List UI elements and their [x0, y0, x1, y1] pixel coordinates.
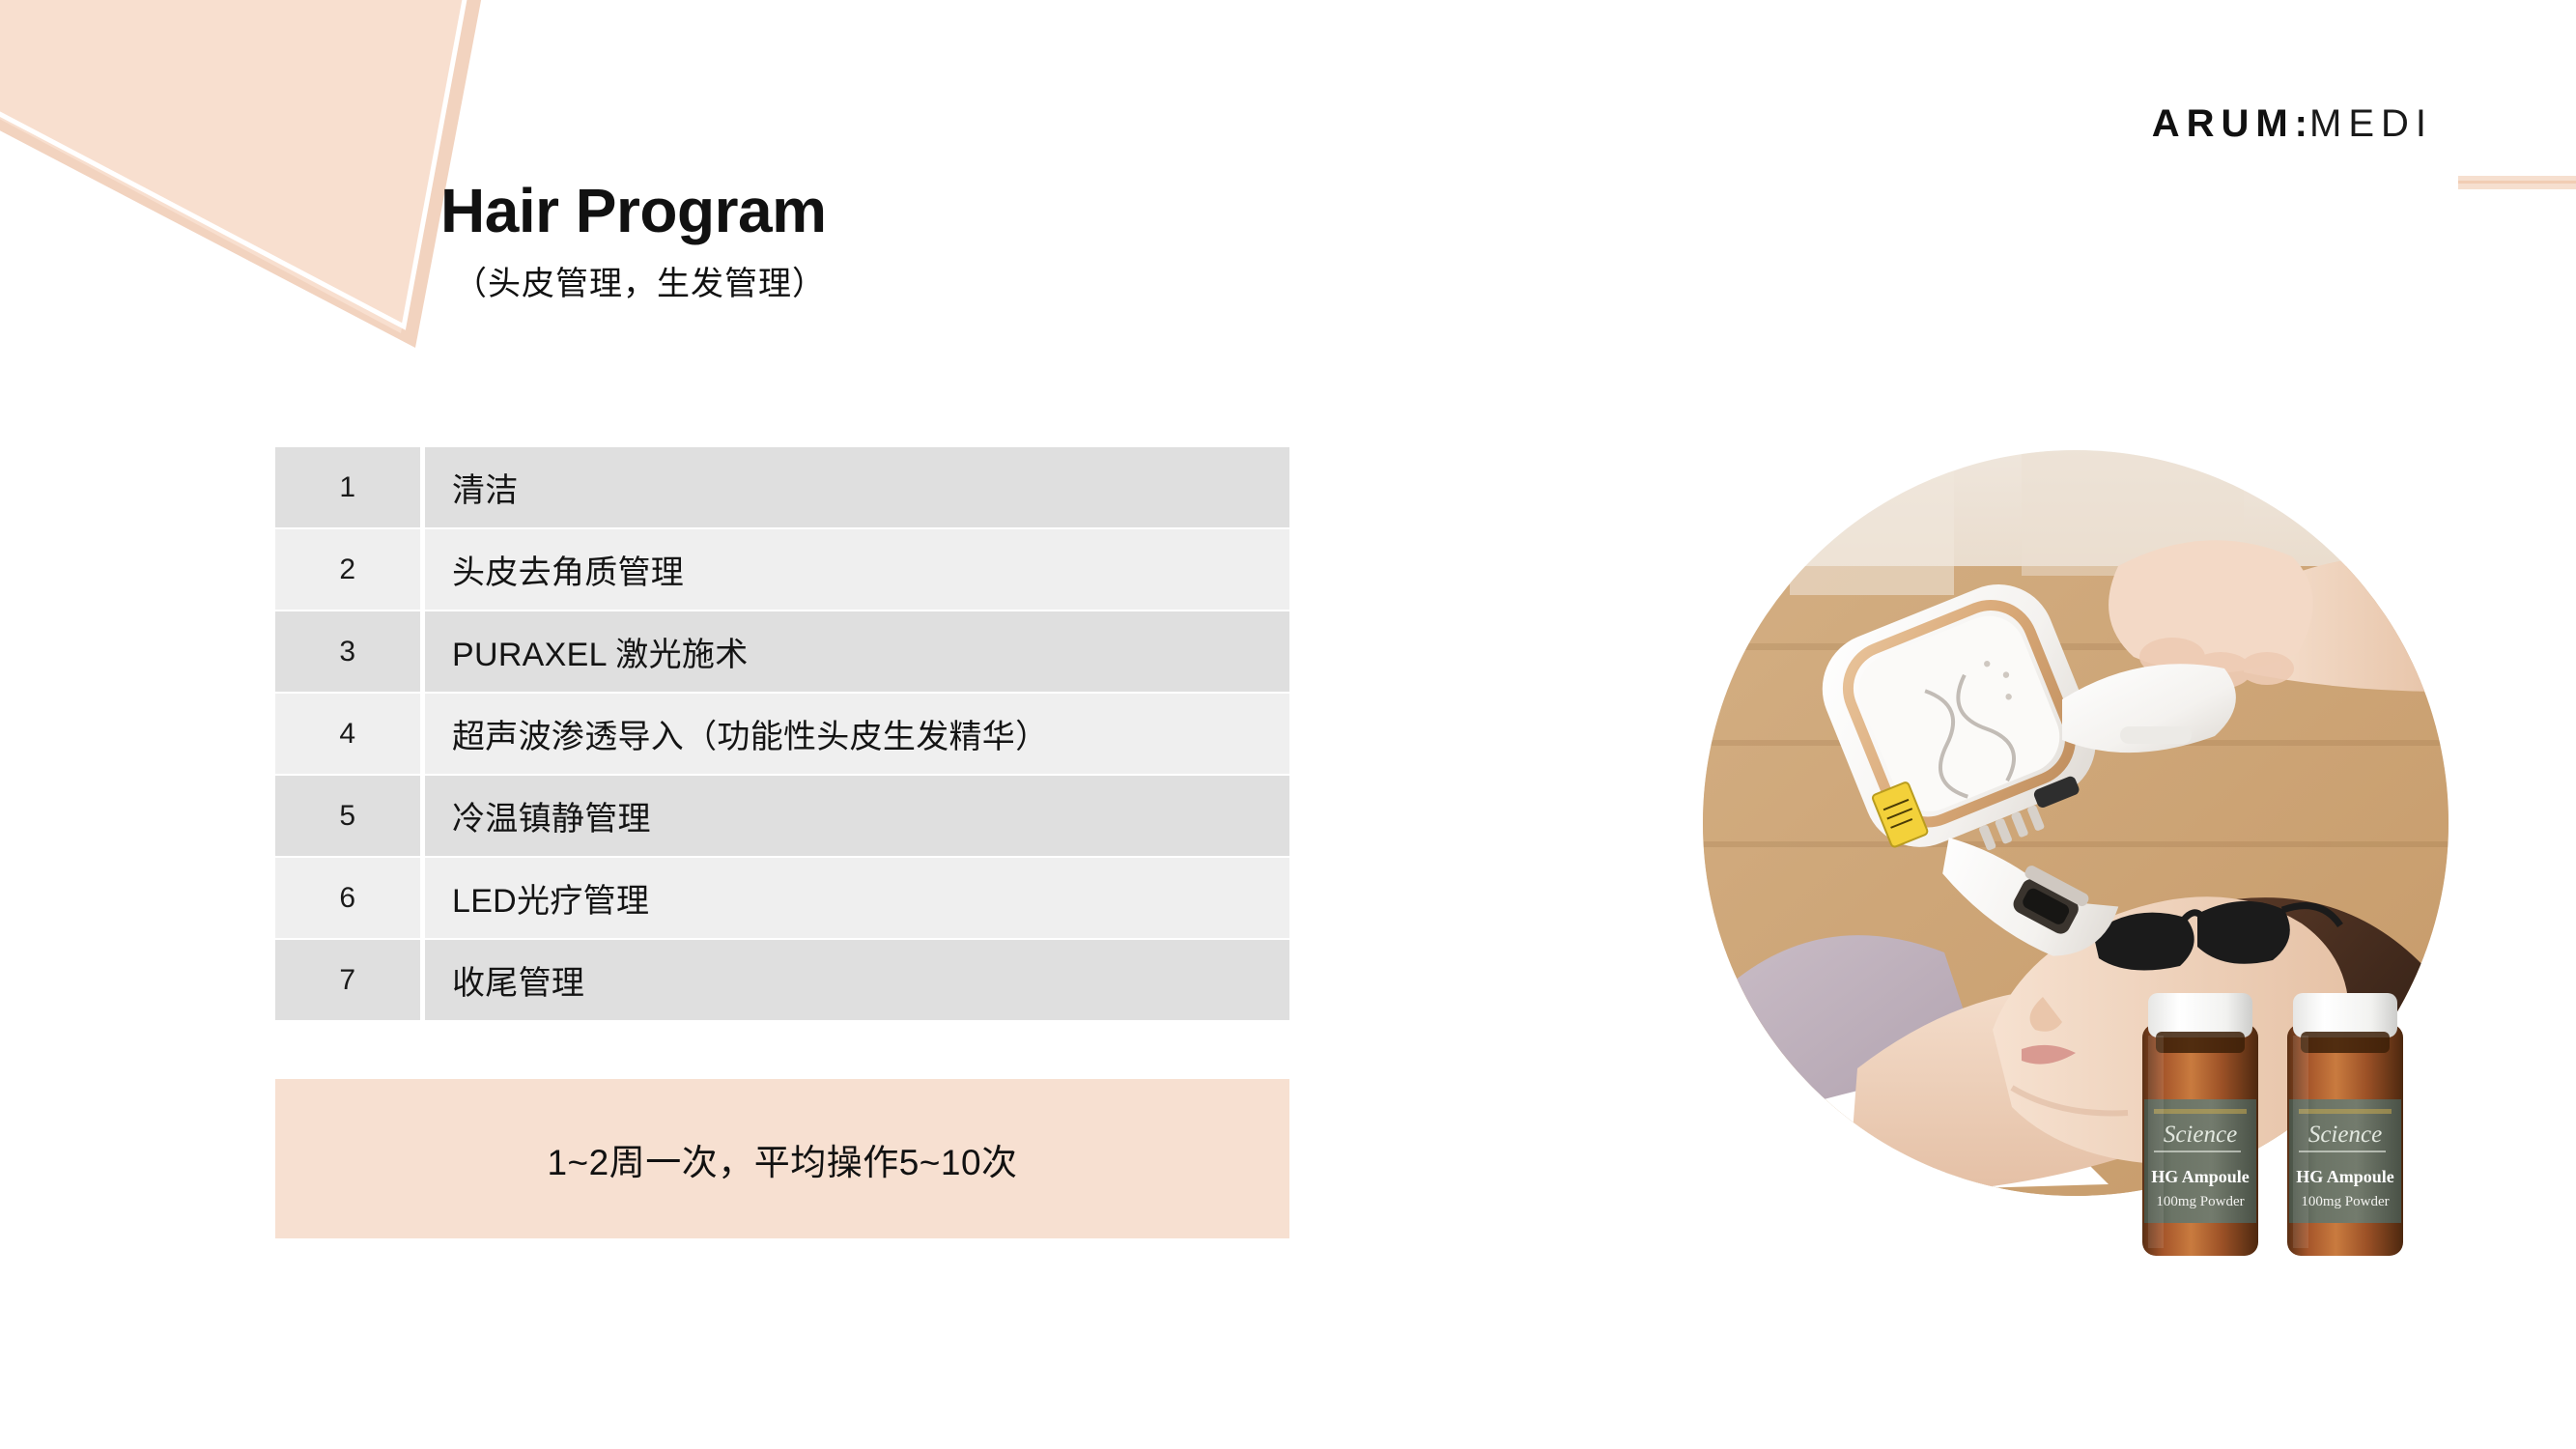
step-label: 收尾管理 — [425, 940, 1289, 1020]
step-label: 超声波渗透导入（功能性头皮生发精华） — [425, 694, 1289, 774]
step-number: 2 — [275, 529, 420, 610]
logo-arum: ARUM — [2152, 102, 2295, 145]
svg-text:HG Ampoule: HG Ampoule — [2151, 1167, 2250, 1186]
slide-root: ARUM:MEDI Hair Program （头皮管理，生发管理） 1 清洁 … — [0, 0, 2576, 1449]
frequency-note-banner: 1~2周一次，平均操作5~10次 — [275, 1079, 1289, 1238]
step-number: 5 — [275, 776, 420, 856]
table-row: 7 收尾管理 — [275, 940, 1289, 1020]
header-accent-bar — [2458, 176, 2576, 189]
table-row: 2 头皮去角质管理 — [275, 529, 1289, 610]
title-block: Hair Program （头皮管理，生发管理） — [440, 179, 826, 304]
frequency-note-text: 1~2周一次，平均操作5~10次 — [547, 1133, 1017, 1185]
step-label: 清洁 — [425, 447, 1289, 527]
svg-text:100mg Powder: 100mg Powder — [2156, 1194, 2244, 1209]
table-row: 6 LED光疗管理 — [275, 858, 1289, 938]
svg-text:Science: Science — [2308, 1122, 2382, 1148]
step-number: 4 — [275, 694, 420, 774]
brand-logo: ARUM:MEDI — [2152, 104, 2433, 143]
product-ampoules: Science HG Ampoule 100mg Powder Science … — [2127, 985, 2436, 1270]
svg-text:100mg Powder: 100mg Powder — [2301, 1194, 2389, 1209]
step-number: 7 — [275, 940, 420, 1020]
page-subtitle: （头皮管理，生发管理） — [454, 257, 826, 304]
step-label: PURAXEL 激光施术 — [425, 611, 1289, 692]
step-number: 6 — [275, 858, 420, 938]
table-row: 3 PURAXEL 激光施术 — [275, 611, 1289, 692]
step-label: 头皮去角质管理 — [425, 529, 1289, 610]
logo-medi: MEDI — [2309, 102, 2433, 145]
table-row: 1 清洁 — [275, 447, 1289, 527]
svg-text:Science: Science — [2164, 1122, 2237, 1148]
page-title: Hair Program — [440, 179, 826, 243]
logo-colon: : — [2295, 102, 2309, 145]
process-table: 1 清洁 2 头皮去角质管理 3 PURAXEL 激光施术 4 超声波渗透导入（… — [275, 447, 1289, 1022]
table-row: 4 超声波渗透导入（功能性头皮生发精华） — [275, 694, 1289, 774]
step-label: LED光疗管理 — [425, 858, 1289, 938]
table-row: 5 冷温镇静管理 — [275, 776, 1289, 856]
step-number: 3 — [275, 611, 420, 692]
step-number: 1 — [275, 447, 420, 527]
step-label: 冷温镇静管理 — [425, 776, 1289, 856]
svg-text:HG Ampoule: HG Ampoule — [2296, 1167, 2394, 1186]
